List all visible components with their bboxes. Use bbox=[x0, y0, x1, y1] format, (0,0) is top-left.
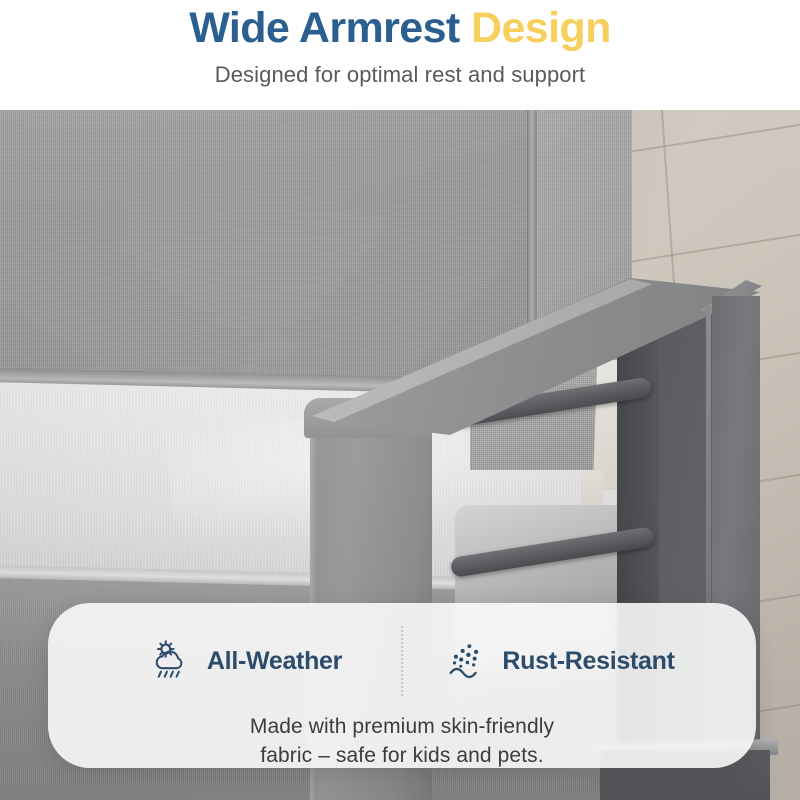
feature-label: Rust-Resistant bbox=[502, 647, 674, 676]
all-weather-icon bbox=[148, 638, 194, 684]
feature-list: All-Weather bbox=[48, 603, 756, 696]
product-feature-banner: Wide Armrest Design Designed for optimal… bbox=[0, 0, 800, 800]
rust-resistant-icon bbox=[443, 638, 489, 684]
headline-accent: Design bbox=[471, 4, 611, 52]
page-title: Wide Armrest Design bbox=[189, 0, 611, 54]
feature-divider bbox=[401, 626, 403, 696]
feature-info-card: All-Weather bbox=[48, 603, 756, 768]
feature-label: All-Weather bbox=[207, 647, 342, 676]
blurb-line-1: Made with premium skin-friendly bbox=[250, 712, 554, 741]
feature-blurb: Made with premium skin-friendly fabric –… bbox=[250, 712, 554, 770]
page-subtitle: Designed for optimal rest and support bbox=[215, 54, 586, 89]
feature-rust-resistant: Rust-Resistant bbox=[409, 638, 709, 684]
header-band: Wide Armrest Design Designed for optimal… bbox=[0, 0, 800, 110]
headline-primary: Wide Armrest bbox=[189, 4, 471, 52]
blurb-line-2: fabric – safe for kids and pets. bbox=[250, 741, 554, 770]
feature-all-weather: All-Weather bbox=[95, 638, 395, 684]
